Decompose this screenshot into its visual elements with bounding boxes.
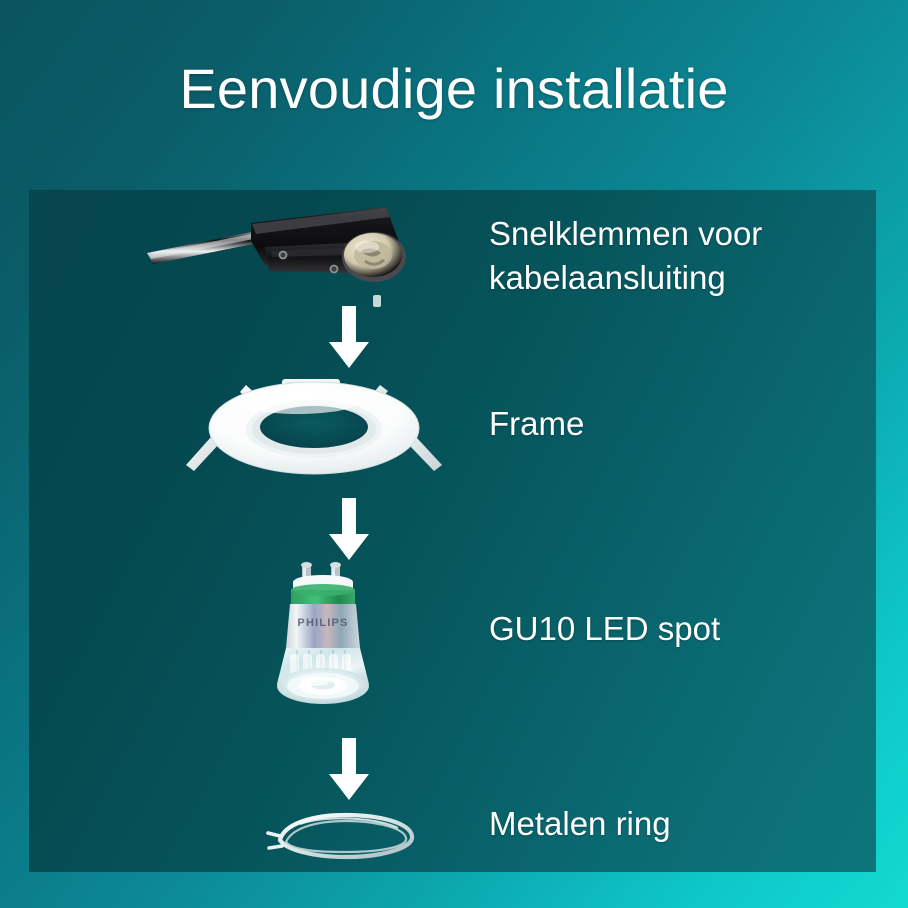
metal-ring-gap-bottom xyxy=(269,846,282,848)
step-label-3: GU10 LED spot xyxy=(489,607,720,651)
step-image-recessed-downlight-frame xyxy=(174,365,454,480)
step-image-metal-spring-ring xyxy=(254,800,434,870)
arrow-down-icon-3 xyxy=(309,738,389,800)
step-label-2: Frame xyxy=(489,402,584,446)
step-label-1: Snelklemmen voor kabelaansluiting xyxy=(489,212,762,299)
arrow-down-icon-1 xyxy=(309,306,389,368)
page-title: Eenvoudige installatie xyxy=(0,58,908,120)
step-image-terminal-block-connector xyxy=(139,195,439,305)
arrow-down-icon-2 xyxy=(309,498,389,560)
step-image-gu10-led-spot: PHILIPS xyxy=(257,562,387,712)
metal-ring-gap-top xyxy=(268,833,280,836)
slide-canvas: Eenvoudige installatie xyxy=(0,0,908,908)
step-label-4: Metalen ring xyxy=(489,802,671,846)
gu10-brand-text: PHILIPS xyxy=(297,617,348,629)
diagram-panel: Snelklemmen voor kabelaansluiting xyxy=(29,190,876,872)
